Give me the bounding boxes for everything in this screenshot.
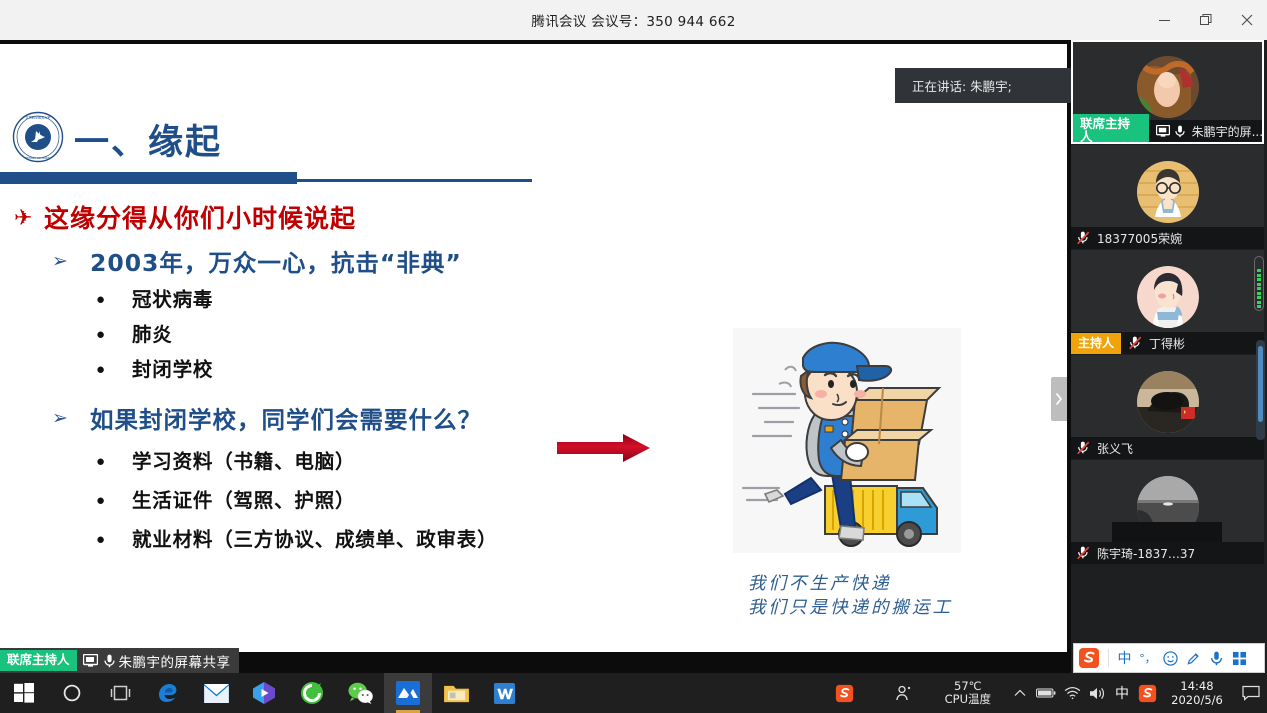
participant-label-row: 18377005荣婉	[1071, 227, 1264, 249]
cpu-temperature-indicator[interactable]: 57℃ CPU温度	[935, 680, 1001, 706]
input-method-indicator[interactable]: 中	[1111, 683, 1133, 703]
ime-divider	[1108, 649, 1109, 667]
wps-office-icon[interactable]	[480, 673, 528, 713]
minimize-button[interactable]	[1144, 0, 1185, 40]
action-center-icon[interactable]	[1235, 673, 1267, 713]
speaking-toast-text: 正在讲话: 朱鹏宇;	[895, 76, 1012, 95]
bullet-level1: ✈ 这缘分得从你们小时候说起	[0, 204, 700, 234]
ime-voice-input-icon[interactable]	[1205, 645, 1228, 671]
shared-slide[interactable]: 北京航空航天大学 BEIHANG UNIVERSITY 一、缘起 ✈ 这缘分得从…	[0, 44, 1067, 652]
microphone-icon	[104, 654, 115, 668]
microphone-muted-icon	[1129, 336, 1142, 350]
mail-app-icon[interactable]	[192, 673, 240, 713]
role-badge-cohost: 联席主持人	[0, 650, 77, 672]
participant-tile[interactable]: 主持人 丁得彬	[1071, 250, 1264, 354]
caption-line-1: 我们不生产快递	[748, 572, 1008, 596]
bullet-level2: ➢ 2003年，万众一心，抗击“非典”	[0, 248, 700, 278]
volume-icon[interactable]	[1085, 673, 1111, 713]
360-browser-icon[interactable]	[288, 673, 336, 713]
participant-name: 18377005荣婉	[1090, 230, 1182, 247]
chevron-bullet-icon: ➢	[52, 248, 90, 276]
participant-rail[interactable]: 联席主持人 朱鹏宇的屏...	[1071, 40, 1267, 673]
role-badge-host: 主持人	[1071, 333, 1121, 354]
media-player-app-icon[interactable]	[240, 673, 288, 713]
bullet-level1-text: 这缘分得从你们小时候说起	[44, 204, 356, 234]
cpu-temp-label: CPU温度	[945, 693, 991, 706]
participant-label-row: 主持人 丁得彬	[1071, 332, 1264, 354]
participant-rail-scrollbar[interactable]	[1256, 340, 1265, 440]
participant-tile[interactable]: 18377005荣婉	[1071, 145, 1264, 249]
ime-mode-toggle[interactable]: 中	[1113, 645, 1136, 671]
slide-bullet-list: ✈ 这缘分得从你们小时候说起 ➢ 2003年，万众一心，抗击“非典” ● 冠状病…	[0, 204, 700, 562]
tencent-meeting-icon[interactable]	[384, 673, 432, 713]
participant-name: 朱鹏宇的屏...	[1185, 123, 1262, 140]
chevron-bullet-icon: ➢	[52, 405, 90, 433]
dot-bullet-icon: ●	[96, 449, 132, 475]
participant-tile[interactable]: 陈宇琦-1837…37	[1071, 460, 1264, 564]
microphone-icon	[1175, 125, 1185, 138]
bullet-level2-text: 2003年，万众一心，抗击“非典”	[90, 248, 462, 278]
participant-label-row: 联席主持人 朱鹏宇的屏...	[1073, 120, 1262, 142]
bullet-level3: ● 生活证件（驾照、护照）	[0, 488, 700, 514]
microphone-muted-icon	[1077, 231, 1090, 245]
bullet-level3-text: 学习资料（书籍、电脑）	[132, 449, 355, 475]
bullet-level3: ● 冠状病毒	[0, 287, 700, 313]
windows-taskbar: 57℃ CPU温度	[0, 673, 1267, 713]
participant-label-row: 张义飞	[1071, 437, 1264, 459]
delivery-courier-illustration	[733, 328, 961, 553]
ime-keyboard-icon[interactable]	[1228, 645, 1251, 671]
avatar	[1137, 371, 1199, 433]
file-explorer-icon[interactable]	[432, 673, 480, 713]
sogou-pinyin-tray-icon[interactable]	[825, 673, 865, 713]
slide-rule-thick	[0, 172, 297, 184]
wechat-app-icon[interactable]	[336, 673, 384, 713]
sogou-input-tray-icon[interactable]	[1133, 673, 1161, 713]
dot-bullet-icon: ●	[96, 287, 132, 313]
bullet-level3-text: 封闭学校	[132, 357, 213, 383]
red-arrow-icon	[557, 433, 650, 463]
university-seal-icon: 北京航空航天大学 BEIHANG UNIVERSITY	[12, 111, 64, 163]
network-wifi-icon[interactable]	[1059, 673, 1085, 713]
svg-text:北京航空航天大学: 北京航空航天大学	[26, 115, 51, 120]
restore-button[interactable]	[1185, 0, 1226, 40]
people-tray-icon[interactable]	[887, 673, 921, 713]
taskbar-clock[interactable]: 14:48 2020/5/6	[1161, 679, 1235, 707]
bullet-level3: ● 封闭学校	[0, 357, 700, 383]
participant-name: 张义飞	[1090, 440, 1133, 457]
dot-bullet-icon: ●	[96, 488, 132, 514]
mic-level-meter	[1254, 256, 1264, 311]
screen-share-status-bar: 联席主持人 朱鹏宇的屏幕共享	[0, 648, 239, 673]
ime-pen-icon[interactable]	[1182, 645, 1205, 671]
caption-line-2: 我们只是快递的搬运工	[748, 596, 1008, 620]
share-owner-label: 朱鹏宇的屏幕共享	[115, 651, 239, 671]
meeting-stage: 北京航空航天大学 BEIHANG UNIVERSITY 一、缘起 ✈ 这缘分得从…	[0, 40, 1267, 673]
participant-tile[interactable]: 张义飞	[1071, 355, 1264, 459]
airplane-bullet-icon: ✈	[14, 204, 44, 232]
avatar	[1137, 161, 1199, 223]
battery-icon[interactable]	[1033, 673, 1059, 713]
microphone-muted-icon	[1077, 546, 1090, 560]
ime-emoji-icon[interactable]	[1159, 645, 1182, 671]
microsoft-edge-icon[interactable]	[144, 673, 192, 713]
dot-bullet-icon: ●	[96, 322, 132, 348]
bullet-level2-text: 如果封闭学校，同学们会需要什么？	[90, 405, 482, 435]
slide-caption: 我们不生产快递 我们只是快递的搬运工	[748, 572, 1008, 620]
window-controls	[1144, 0, 1267, 40]
window-title-bar: 腾讯会议 会议号：350 944 662	[0, 0, 1267, 41]
bullet-level3-text: 生活证件（驾照、护照）	[132, 488, 355, 514]
slide-title: 一、缘起	[74, 114, 222, 165]
bullet-level3: ● 肺炎	[0, 322, 700, 348]
close-button[interactable]	[1226, 0, 1267, 40]
avatar	[1137, 266, 1199, 328]
screen-share-icon	[83, 654, 98, 667]
bullet-level3-text: 冠状病毒	[132, 287, 213, 313]
avatar	[1137, 56, 1199, 118]
participant-name: 陈宇琦-1837…37	[1090, 545, 1195, 562]
task-view-button[interactable]	[96, 673, 144, 713]
taskbar-app-list	[0, 673, 528, 713]
ime-punctuation-toggle[interactable]: °，	[1136, 645, 1159, 671]
window-title: 腾讯会议 会议号：350 944 662	[531, 10, 735, 30]
sogou-logo-icon[interactable]	[1074, 645, 1104, 671]
clock-date: 2020/5/6	[1167, 693, 1227, 707]
screen-share-icon	[1156, 125, 1170, 137]
dot-bullet-icon: ●	[96, 527, 132, 553]
svg-text:BEIHANG UNIVERSITY: BEIHANG UNIVERSITY	[25, 157, 51, 160]
sogou-ime-toolbar[interactable]: 中 °，	[1073, 643, 1265, 673]
show-hidden-icons-chevron-up-icon[interactable]	[1007, 673, 1033, 713]
start-button[interactable]	[0, 673, 48, 713]
participant-label-row: 陈宇琦-1837…37	[1071, 542, 1264, 564]
tencent-meeting-window: 腾讯会议 会议号：350 944 662	[0, 0, 1267, 713]
dot-bullet-icon: ●	[96, 357, 132, 383]
bullet-level3: ● 就业材料（三方协议、成绩单、政审表）	[0, 527, 700, 553]
clock-time: 14:48	[1167, 679, 1227, 693]
taskbar-system-tray: 57℃ CPU温度	[825, 673, 1267, 713]
collapse-panel-handle[interactable]	[1051, 377, 1067, 421]
bullet-level3-text: 就业材料（三方协议、成绩单、政审表）	[132, 527, 497, 553]
slide-rule-thin	[297, 179, 532, 182]
participant-name: 丁得彬	[1142, 335, 1185, 352]
participant-tile[interactable]: 联席主持人 朱鹏宇的屏...	[1071, 40, 1264, 144]
bullet-level2: ➢ 如果封闭学校，同学们会需要什么？	[0, 405, 700, 435]
role-badge-cohost: 联席主持人	[1073, 114, 1149, 144]
cortana-search-button[interactable]	[48, 673, 96, 713]
microphone-muted-icon	[1077, 441, 1090, 455]
bullet-level3-text: 肺炎	[132, 322, 173, 348]
